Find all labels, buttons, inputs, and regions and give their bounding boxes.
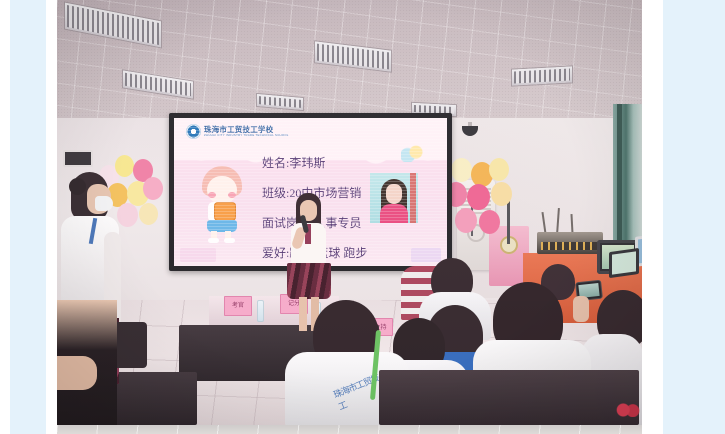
balloon — [455, 208, 477, 233]
ceiling — [57, 0, 642, 128]
school-logo-icon — [186, 124, 201, 139]
school-logo: 珠海市工贸技工学校 ZHUHAI CITY INDUSTRY TRADE TEC… — [186, 124, 289, 139]
wall-speaker-icon — [63, 150, 93, 167]
cartoon-shoe-right — [224, 238, 235, 243]
balloon — [489, 158, 509, 181]
slide-bottom-panel-left — [180, 248, 216, 262]
student-desk — [379, 370, 639, 425]
ceiling-light-panel — [512, 66, 572, 85]
observer-hair-bun — [69, 178, 86, 195]
classroom-photo[interactable]: 珠海市工贸技工学校 ZHUHAI CITY INDUSTRY TRADE TEC… — [57, 0, 642, 425]
balloon — [467, 184, 490, 210]
school-logo-subtitle: ZHUHAI CITY INDUSTRY TRADE TECHNICAL SCH… — [204, 134, 289, 137]
slide-sun-cloud-decor — [401, 140, 431, 162]
red-objects — [616, 403, 640, 417]
page-backdrop-left — [10, 0, 46, 434]
face-mask-icon — [95, 196, 113, 211]
balloon — [139, 203, 158, 225]
cartoon-cheek-left — [208, 192, 216, 198]
name-plate-label: 考官 — [224, 296, 252, 316]
slide-id-portrait — [370, 173, 418, 223]
portrait-body — [380, 204, 408, 223]
page-backdrop-right — [663, 0, 725, 434]
portrait-face — [386, 184, 402, 204]
hand-holding-phone — [573, 296, 589, 322]
cartoon-girl-illustration — [196, 166, 252, 242]
slide-bottom-panel-right — [411, 248, 441, 262]
ceiling-camera-icon — [462, 122, 478, 136]
tablet-screen — [612, 251, 636, 274]
balloon — [491, 182, 512, 206]
image-viewer: 珠海市工贸技工学校 ZHUHAI CITY INDUSTRY TRADE TEC… — [0, 0, 725, 434]
camera-dome — [462, 126, 478, 136]
presenter-skirt — [287, 263, 331, 299]
water-bottle — [257, 300, 264, 322]
cartoon-face — [207, 176, 237, 204]
tablet — [609, 248, 639, 278]
balloon — [451, 158, 472, 182]
balloon — [479, 210, 500, 234]
cartoon-shoe-left — [208, 238, 219, 243]
cartoon-backpack — [214, 202, 236, 221]
presenter-leg-left — [299, 297, 307, 331]
audio-mixer-rack — [537, 232, 603, 254]
slide-line-name: 姓名:李玮斯 — [262, 154, 367, 171]
portrait-stripe — [410, 173, 416, 223]
cartoon-cheek-right — [228, 192, 236, 198]
foreground-arm — [57, 356, 97, 390]
next-image-strip — [57, 425, 642, 434]
balloon — [143, 177, 163, 200]
balloon-cluster-right — [445, 158, 517, 238]
name-plate: 考官 — [224, 296, 252, 316]
